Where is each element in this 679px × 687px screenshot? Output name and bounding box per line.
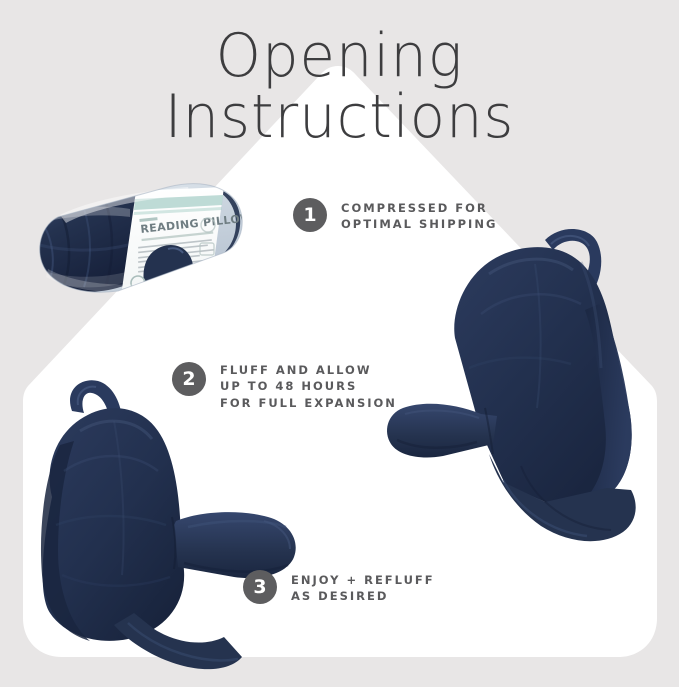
step-1-badge: 1 bbox=[293, 198, 327, 232]
title-line-1: Opening bbox=[14, 28, 666, 85]
step-2: 2 FLUFF AND ALLOW UP TO 48 HOURS FOR FUL… bbox=[172, 362, 397, 411]
compressed-package-image: READING PILLOW bbox=[18, 165, 253, 310]
instruction-graphic: Opening Instructions bbox=[0, 0, 679, 687]
step-2-text: FLUFF AND ALLOW UP TO 48 HOURS FOR FULL … bbox=[220, 362, 397, 411]
page-title: Opening Instructions bbox=[0, 28, 679, 146]
title-line-2: Instructions bbox=[14, 89, 666, 146]
expanded-pillow-image-right bbox=[385, 218, 670, 558]
step-1-text: COMPRESSED FOR OPTIMAL SHIPPING bbox=[341, 198, 497, 233]
step-2-badge: 2 bbox=[172, 362, 206, 396]
step-3-text: ENJOY + REFLUFF AS DESIRED bbox=[291, 570, 435, 605]
step-3-badge: 3 bbox=[243, 570, 277, 604]
expanded-pillow-image-left bbox=[18, 375, 318, 675]
step-3: 3 ENJOY + REFLUFF AS DESIRED bbox=[243, 570, 435, 605]
step-1: 1 COMPRESSED FOR OPTIMAL SHIPPING bbox=[293, 198, 497, 233]
